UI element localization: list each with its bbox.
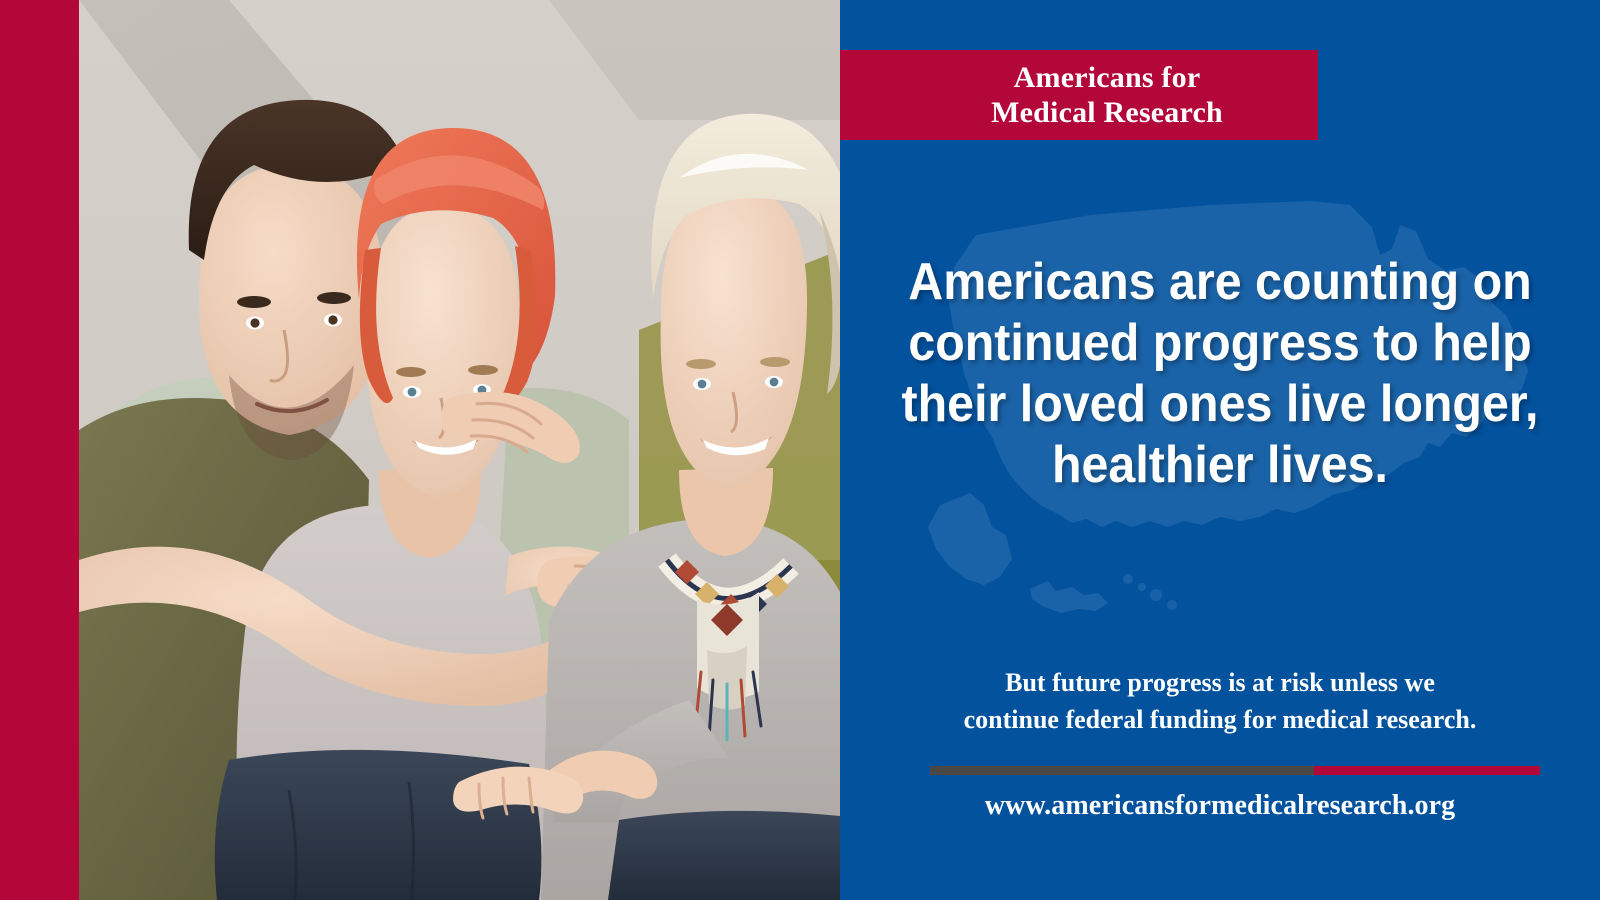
divider-bar xyxy=(930,766,1540,775)
divider-segment-dark xyxy=(930,766,1314,775)
organization-name: Americans for Medical Research xyxy=(935,60,1223,131)
organization-logo-banner: Americans for Medical Research xyxy=(840,50,1318,140)
website-url[interactable]: www.americansformedicalresearch.org xyxy=(860,790,1580,822)
supporting-message: But future progress is at risk unless we… xyxy=(860,664,1580,738)
poster-canvas: Americans for Medical Research Americans… xyxy=(0,0,1600,900)
left-accent-stripe xyxy=(0,0,79,900)
divider-segment-red xyxy=(1314,766,1540,775)
headline-message: Americans are counting on continued prog… xyxy=(895,252,1546,496)
photo-illustration xyxy=(79,0,840,900)
hero-photograph xyxy=(79,0,840,900)
message-panel: Americans for Medical Research Americans… xyxy=(840,0,1600,900)
